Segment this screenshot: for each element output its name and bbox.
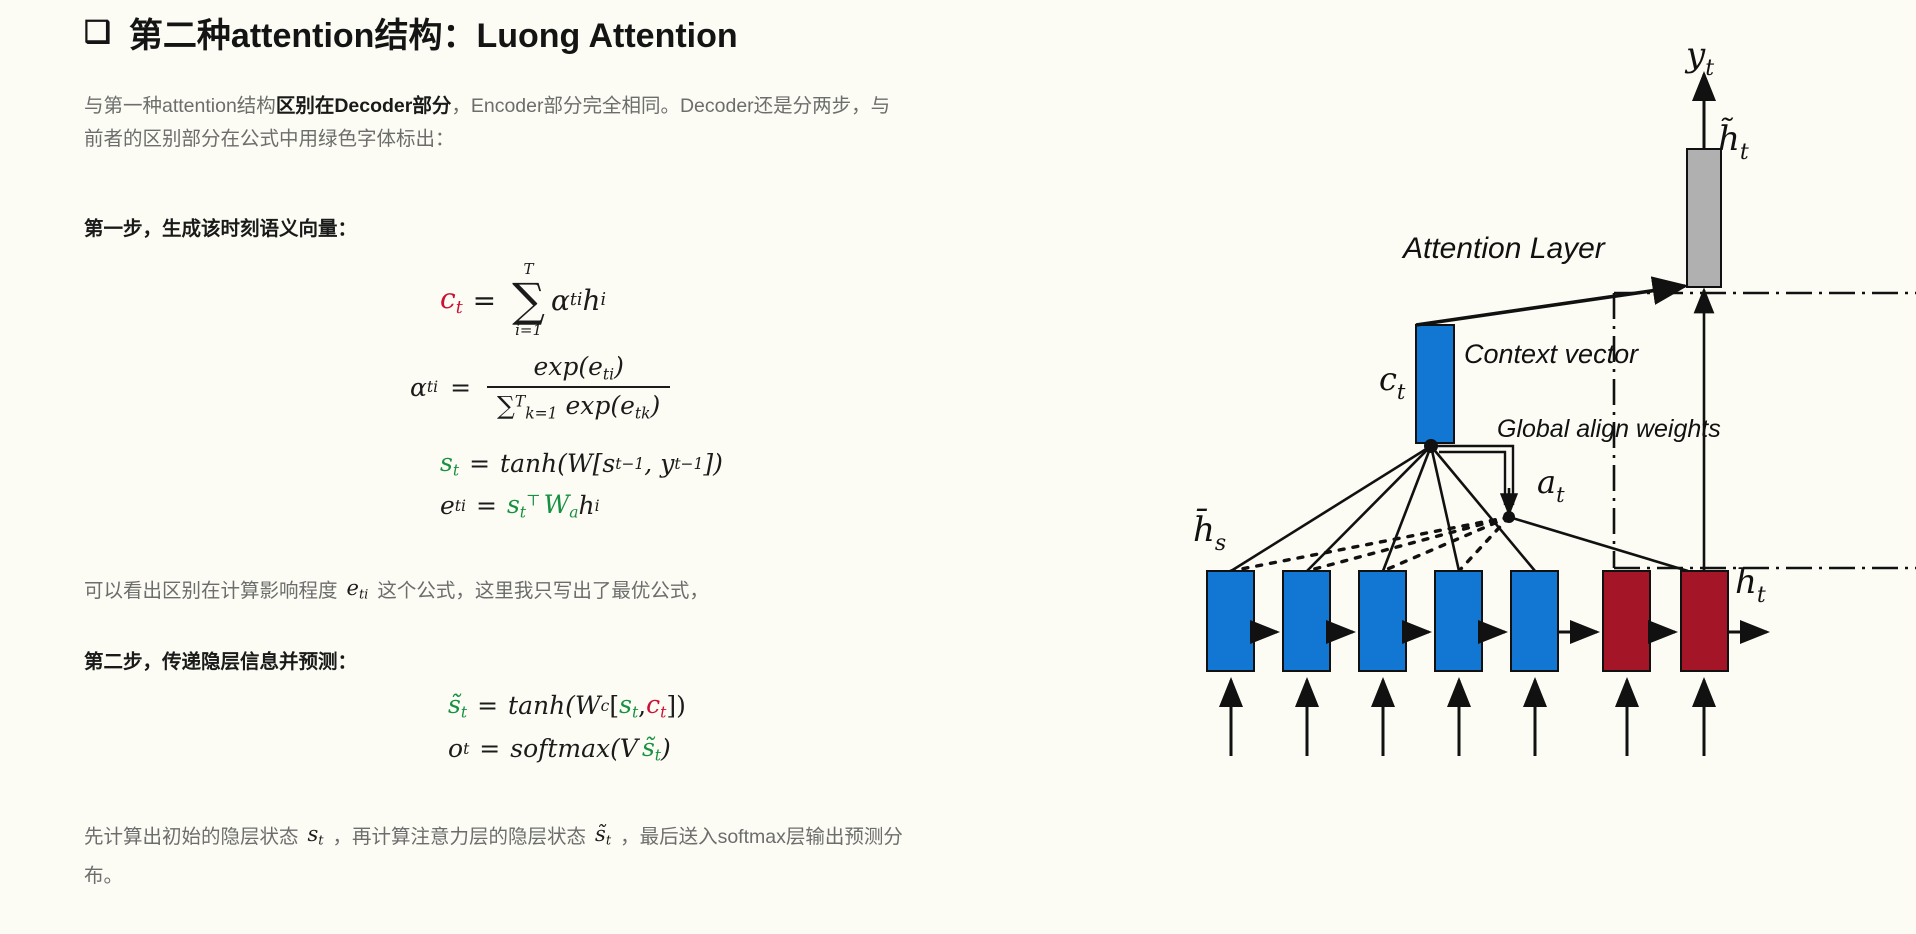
f2-num-end: ) [614, 352, 624, 381]
f5-c: ct [646, 690, 666, 721]
note2-m2: s̃t [595, 818, 611, 858]
f4-lhs: e [440, 491, 455, 520]
f2-denominator: ∑Tk=1 exp(etk) [487, 388, 670, 423]
f1-alpha: α [551, 284, 570, 317]
f2-den-sup: T [515, 392, 525, 410]
f2-lhs: α [410, 373, 427, 402]
f1-alpha-sub: ti [570, 290, 583, 310]
h-tilde-t-label: h̃t [1718, 118, 1749, 165]
note2-line1: 先计算出初始的隐层状态 st ，再计算注意力层的隐层状态 s̃t ，最后送入so… [84, 818, 903, 858]
note-after-step1: 可以看出区别在计算影响程度 eti 这个公式，这里我只写出了最优公式， [84, 572, 709, 612]
f4-w-base: W [544, 490, 570, 519]
f3-rhs-end: ]) [703, 449, 723, 478]
note1-math: eti [347, 572, 369, 612]
note2-m1: st [308, 818, 324, 858]
h-tilde-output-bar [1687, 149, 1721, 287]
f6-close: ) [661, 734, 671, 763]
formula-alignment-score: eti = st⊤ Wa hi [440, 490, 600, 521]
f5-c-base: c [646, 690, 660, 719]
rnn-bar-row [1207, 571, 1728, 671]
f5-lhs: s̃ [448, 690, 461, 719]
f4-h: h [579, 491, 595, 520]
f6-equals: = [479, 734, 500, 763]
encoder-bar-1 [1207, 571, 1254, 671]
at-to-ht-line [1509, 517, 1688, 571]
f5-s-base: s [619, 690, 632, 719]
f6-rhs: softmax(V [510, 734, 638, 763]
c-t-label: ct [1379, 360, 1406, 404]
f2-den-sigma: ∑ [497, 391, 515, 420]
attention-layer-label: Attention Layer [1401, 232, 1606, 265]
note2-m2-base: s̃ [595, 822, 606, 846]
f1-sum-bottom: i=1 [515, 323, 542, 338]
intro-line1-suffix: ，Encoder部分完全相同。Decoder还是分两步，与 [451, 95, 890, 117]
decoder-bar-2 [1681, 571, 1728, 671]
note1-prefix: 可以看出区别在计算影响程度 [84, 575, 338, 608]
f2-num-sub: ti [603, 365, 614, 383]
f6-stilde-base: s̃ [642, 733, 655, 762]
a-t-label: at [1537, 463, 1565, 507]
f3-rhs: tanh(W[s [500, 449, 615, 478]
decoder-bar-1 [1603, 571, 1650, 671]
luong-attention-diagram: Attention Layer Context vector Global al… [1160, 0, 1916, 934]
intro-line2: 前者的区别部分在公式中用绿色字体标出： [84, 128, 455, 150]
formula-output-softmax: ot = softmax(Vs̃t) [448, 733, 671, 764]
f4-equals: = [476, 491, 497, 520]
note-after-step2: 先计算出初始的隐层状态 st ，再计算注意力层的隐层状态 s̃t ，最后送入so… [84, 818, 1104, 893]
f1-lhs: c [440, 282, 456, 315]
note2-m2-sub: t [606, 834, 611, 849]
f1-summation: T ∑ i=1 [512, 262, 545, 338]
f5-rhs: tanh(W [508, 691, 601, 720]
intro-line1-prefix: 与第一种attention结构 [84, 95, 276, 117]
sigma-icon: ∑ [512, 277, 545, 323]
f6-lhs-sub: t [463, 740, 469, 758]
f3-rhs-mid: , y [644, 449, 674, 478]
note1-suffix: 这个公式，这里我只写出了最优公式， [377, 575, 709, 608]
input-arrows [1231, 680, 1704, 756]
f6-lhs: o [448, 734, 463, 763]
f1-h: h [582, 284, 600, 317]
f2-num-exp: exp(e [533, 352, 602, 381]
y-t-label: yt [1684, 35, 1714, 81]
f3-lhs: s [440, 448, 453, 477]
f1-equals: = [473, 284, 496, 317]
f2-den-exp: exp(e [565, 391, 634, 420]
context-vector-blue-bar [1416, 325, 1454, 443]
f3-rhs-sub: t−1 [615, 455, 644, 473]
f2-numerator: exp(eti) [523, 352, 633, 386]
f5-s: st [619, 690, 638, 721]
note2-p1: 先计算出初始的隐层状态 [84, 821, 299, 854]
f1-lhs-sub: t [456, 298, 463, 318]
f2-fraction: exp(eti) ∑Tk=1 exp(etk) [487, 352, 670, 422]
title-bullet-icon: ❑ [84, 18, 111, 48]
f2-lhs-sub: ti [427, 378, 438, 396]
text-column: ❑ 第二种attention结构：Luong Attention 与第一种att… [0, 0, 1160, 934]
encoder-bar-3 [1359, 571, 1406, 671]
formula-attentional-state: s̃t = tanh(Wc[st, ct]) [448, 690, 686, 721]
f4-w-sub: a [569, 503, 578, 521]
formula-context-vector: ct = T ∑ i=1 αtihi [440, 262, 606, 338]
h-bar-s-label: h̄s [1193, 508, 1226, 556]
formula-alignment-weight: αti = exp(eti) ∑Tk=1 exp(etk) [410, 352, 674, 422]
f3-equals: = [469, 449, 490, 478]
f2-den-sub: k=1 [525, 404, 557, 422]
f5-close: ]) [666, 691, 686, 720]
f4-lhs-sub: ti [455, 497, 466, 515]
f5-equals: = [477, 691, 498, 720]
f4-s: st⊤ [507, 490, 541, 521]
slide-canvas: ❑ 第二种attention结构：Luong Attention 与第一种att… [0, 0, 1916, 934]
note2-m1-base: s [308, 822, 319, 846]
encoder-bar-4 [1435, 571, 1482, 671]
f4-w: Wa [544, 490, 579, 521]
note1-math-base: e [347, 576, 359, 600]
f6-stilde: s̃t [642, 733, 661, 764]
f3-rhs-sub2: t−1 [674, 455, 703, 473]
step1-heading: 第一步，生成该时刻语义向量： [84, 212, 357, 241]
note2-p2: ，再计算注意力层的隐层状态 [333, 821, 587, 854]
page-title: ❑ 第二种attention结构：Luong Attention [84, 8, 738, 57]
title-text: 第二种attention结构：Luong Attention [129, 8, 738, 57]
f3-lhs-sub: t [453, 461, 459, 479]
intro-paragraph: 与第一种attention结构区别在Decoder部分，Encoder部分完全相… [84, 90, 1084, 156]
note2-m1-sub: t [318, 834, 323, 849]
context-vector-label: Context vector [1464, 339, 1639, 369]
f5-comma: , [638, 691, 646, 720]
encoder-bar-5 [1511, 571, 1558, 671]
f5-rhs-sub: c [601, 697, 610, 715]
step2-heading: 第二步，传递隐层信息并预测： [84, 645, 357, 674]
note2-p3: ，最后送入softmax层输出预测分 [620, 821, 903, 854]
f5-open: [ [609, 691, 619, 720]
formula-decoder-state: st = tanh(W[st−1, yt−1]) [440, 448, 723, 479]
f4-h-sub: i [595, 497, 600, 515]
f2-equals: = [450, 373, 471, 402]
context-to-output-line [1416, 286, 1685, 325]
f1-h-sub: i [600, 290, 606, 310]
note2-p4: 布。 [84, 860, 1104, 893]
f4-s-sup: ⊤ [526, 491, 541, 509]
note1-math-sub: ti [359, 588, 368, 603]
f2-den-exp-sub: tk [635, 404, 651, 422]
global-align-weights-label: Global align weights [1497, 415, 1721, 443]
encoder-bar-2 [1283, 571, 1330, 671]
f2-den-end: ) [651, 391, 661, 420]
f4-s-base: s [507, 490, 520, 519]
intro-line1-bold: 区别在Decoder部分 [276, 95, 452, 117]
f5-lhs-sub: t [461, 703, 467, 721]
